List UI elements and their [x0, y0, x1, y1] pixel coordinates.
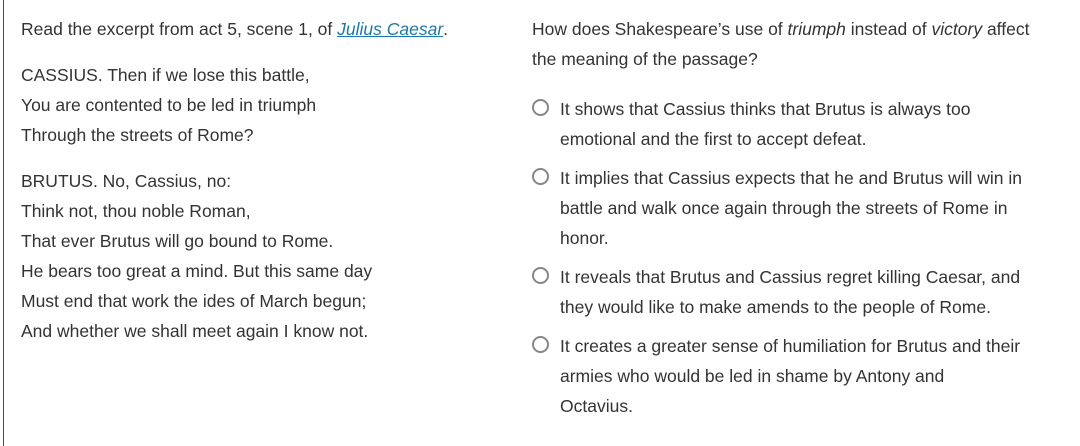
radio-button-icon[interactable]: [532, 168, 549, 185]
radio-button-icon[interactable]: [532, 336, 549, 353]
answer-option-label: It shows that Cassius thinks that Brutus…: [560, 94, 1022, 154]
two-column-layout: Read the excerpt from act 5, scene 1, of…: [0, 0, 1080, 446]
instruction-text-before-link: Read the excerpt from act 5, scene 1, of: [21, 19, 337, 39]
question-stem-part1: How does Shakespeare’s use of: [532, 19, 788, 39]
question-column: How does Shakespeare’s use of triumph in…: [512, 0, 1080, 430]
speech-cassius: CASSIUS. Then if we lose this battle, Yo…: [21, 60, 488, 150]
passage-column: Read the excerpt from act 5, scene 1, of…: [0, 0, 512, 346]
answer-option-label: It reveals that Brutus and Cassius regre…: [560, 262, 1022, 322]
question-stem-italic-victory: victory: [932, 19, 983, 39]
answer-option-label: It implies that Cassius expects that he …: [560, 163, 1022, 253]
radio-button-icon[interactable]: [532, 267, 549, 284]
answer-option[interactable]: It creates a greater sense of humiliatio…: [532, 331, 1066, 421]
answer-option[interactable]: It shows that Cassius thinks that Brutus…: [532, 94, 1066, 154]
question-page: Read the excerpt from act 5, scene 1, of…: [0, 0, 1080, 446]
speech-brutus: BRUTUS. No, Cassius, no: Think not, thou…: [21, 166, 488, 346]
question-stem: How does Shakespeare’s use of triumph in…: [532, 14, 1052, 74]
julius-caesar-link[interactable]: Julius Caesar: [337, 19, 443, 39]
answer-option[interactable]: It implies that Cassius expects that he …: [532, 163, 1066, 253]
answer-option-label: It creates a greater sense of humiliatio…: [560, 331, 1022, 421]
question-stem-italic-triumph: triumph: [788, 19, 846, 39]
answer-options-list: It shows that Cassius thinks that Brutus…: [532, 94, 1066, 421]
answer-option[interactable]: It reveals that Brutus and Cassius regre…: [532, 262, 1066, 322]
question-stem-part2: instead of: [846, 19, 932, 39]
radio-button-icon[interactable]: [532, 99, 549, 116]
passage-instruction: Read the excerpt from act 5, scene 1, of…: [21, 14, 488, 44]
instruction-text-after-link: .: [443, 19, 448, 39]
